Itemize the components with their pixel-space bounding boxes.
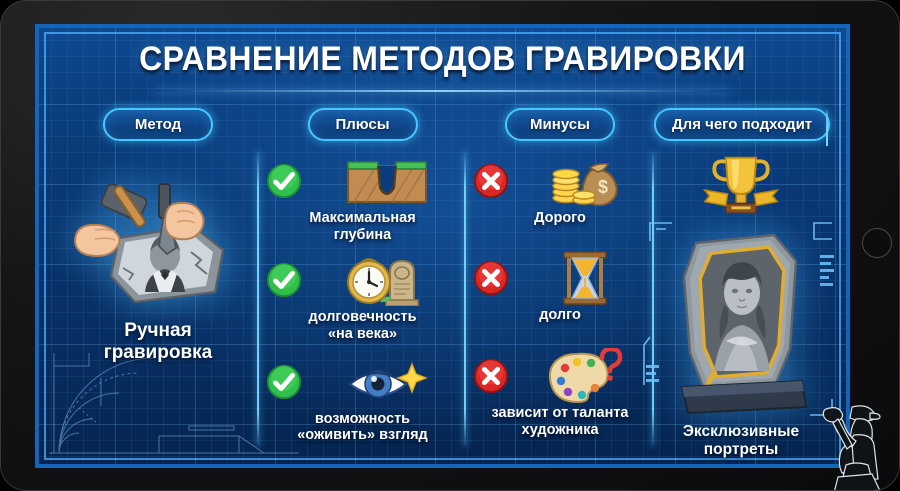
stonemason-silhouette-icon	[808, 399, 894, 491]
cons-item-2: долго	[466, 251, 654, 324]
pros-text-3: возможность «оживить» взгляд	[259, 411, 466, 444]
money-bag-coins-icon: $	[544, 156, 626, 206]
red-cross-icon	[472, 162, 510, 200]
sparkling-eye-icon	[344, 358, 430, 406]
pros-text-2-line1: долговечность	[259, 309, 466, 326]
cons-item-1: $	[466, 154, 654, 227]
pros-text-1: Максимальная глубина	[259, 210, 466, 243]
screen: СРАВНЕНИЕ МЕТОДОВ ГРАВИРОВКИ Метод Плюсы…	[35, 24, 850, 468]
method-label-line1: Ручная	[104, 320, 212, 342]
comparison-columns: Ручная гравировка	[57, 146, 828, 460]
header-pill-pros[interactable]: Плюсы	[308, 108, 418, 141]
gold-trophy-icon	[695, 152, 787, 219]
memorial-stone-frame	[656, 221, 826, 421]
cons-icon-1-wrap: $	[515, 154, 654, 208]
tablet-device-frame: СРАВНЕНИЕ МЕТОДОВ ГРАВИРОВКИ Метод Плюсы…	[0, 0, 900, 491]
column-header-method: Метод	[57, 106, 259, 142]
pros-item-2: долговечность «на века»	[259, 253, 466, 342]
method-label: Ручная гравировка	[104, 320, 212, 364]
green-check-icon	[265, 363, 303, 401]
suitable-label-line2: портреты	[683, 441, 799, 460]
cons-text-1: Дорого	[466, 210, 654, 227]
pros-text-2: долговечность «на века»	[259, 309, 466, 342]
column-pros: Максимальная глубина	[259, 146, 466, 460]
pros-text-3-line2: «оживить» взгляд	[259, 427, 466, 444]
red-cross-icon	[472, 259, 510, 297]
column-method: Ручная гравировка	[57, 146, 259, 460]
green-check-icon	[265, 162, 303, 200]
suitable-label: Эксклюзивные портреты	[683, 423, 799, 460]
pros-icon-3-wrap	[308, 355, 466, 409]
red-cross-icon	[472, 357, 510, 395]
method-label-line2: гравировка	[104, 342, 212, 364]
header-pill-cons[interactable]: Минусы	[505, 108, 615, 141]
cons-text-3-line2: художника	[466, 422, 654, 439]
cons-text-3: зависит от таланта художника	[466, 405, 654, 438]
cons-text-3-line1: зависит от таланта	[466, 405, 654, 422]
svg-text:$: $	[597, 177, 607, 197]
cons-text-2: долго	[466, 307, 654, 324]
hourglass-icon	[554, 250, 616, 306]
suitable-label-line1: Эксклюзивные	[683, 423, 799, 442]
pros-text-3-line1: возможность	[259, 411, 466, 428]
column-header-suitable: Для чего подходит	[654, 106, 830, 142]
cons-icon-3-wrap	[515, 349, 654, 403]
column-headers: Метод Плюсы Минусы Для чего подходит	[57, 106, 828, 142]
column-suitable: Эксклюзивные портреты	[654, 146, 828, 460]
hammer-chisel-stone-portrait-icon	[73, 164, 243, 314]
column-header-cons: Минусы	[466, 106, 654, 142]
column-cons: $	[466, 146, 654, 460]
header-pill-suitable[interactable]: Для чего подходит	[654, 108, 830, 141]
pros-item-3: возможность «оживить» взгляд	[259, 355, 466, 444]
column-header-pros: Плюсы	[259, 106, 466, 142]
clock-tombstone-icon	[344, 254, 430, 306]
memorial-stone-portrait-icon	[656, 221, 826, 421]
green-check-icon	[265, 261, 303, 299]
title-underline	[155, 90, 730, 92]
cons-icon-2-wrap	[515, 251, 654, 305]
header-pill-method[interactable]: Метод	[103, 108, 213, 141]
page-title: СРАВНЕНИЕ МЕТОДОВ ГРАВИРОВКИ	[59, 40, 825, 79]
wood-groove-depth-icon	[346, 158, 428, 204]
cons-text-1-line1: Дорого	[466, 210, 654, 227]
pros-text-1-line1: Максимальная	[259, 210, 466, 227]
cons-text-2-line1: долго	[466, 307, 654, 324]
pros-icon-1-wrap	[308, 154, 466, 208]
cons-item-3: зависит от таланта художника	[466, 349, 654, 438]
pros-icon-2-wrap	[308, 253, 466, 307]
pros-text-1-line2: глубина	[259, 227, 466, 244]
pros-item-1: Максимальная глубина	[259, 154, 466, 243]
home-button[interactable]	[862, 228, 892, 258]
header-divider-3	[826, 108, 828, 146]
paint-palette-question-icon	[543, 348, 627, 404]
pros-text-2-line2: «на века»	[259, 326, 466, 343]
